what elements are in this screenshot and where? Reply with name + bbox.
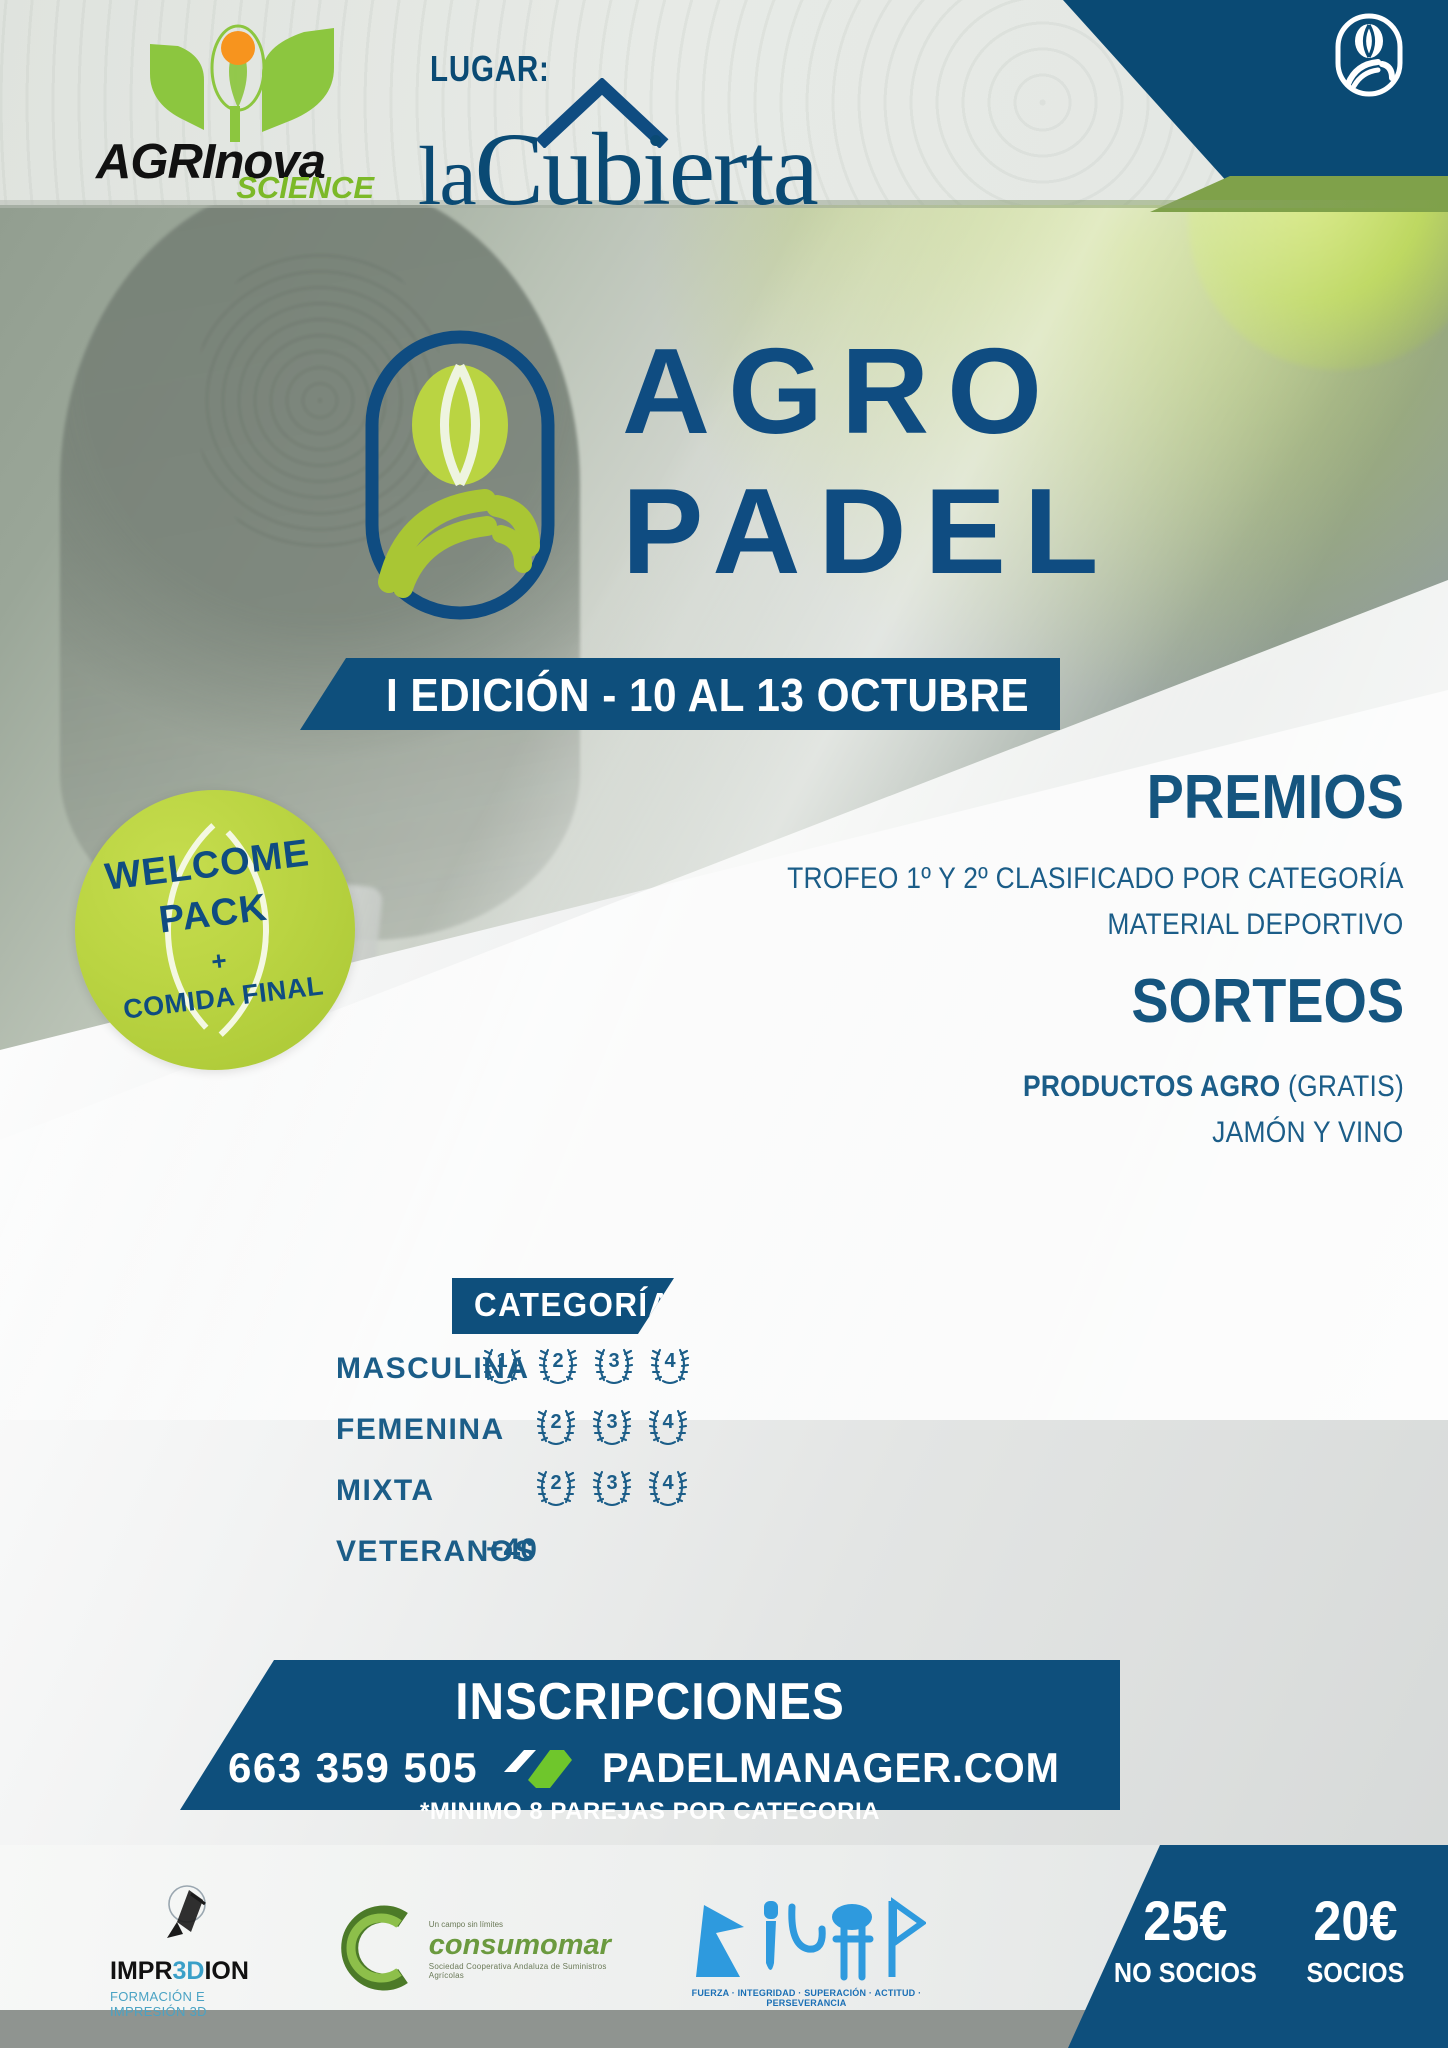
footer-sponsor-logos: IMPR3DION FORMACIÓN E IMPRESIÓN 3D Un ca… bbox=[110, 1880, 930, 2020]
sponsor-impr3dion-name: IMPR3DION bbox=[110, 1957, 265, 1986]
laurel-wreath-number: 4 bbox=[646, 1350, 694, 1373]
categoria-badges: 2 3 4 bbox=[532, 1405, 692, 1449]
poster-root: AGRInova SCIENCE LUGAR: laCubierta bbox=[0, 0, 1448, 2048]
laurel-wreath-number: 4 bbox=[644, 1472, 692, 1495]
categoria-row-masculina: MASCULINA 1 2 3 4 bbox=[336, 1348, 756, 1394]
welcome-pack-ball: WELCOME PACK + COMIDA FINAL bbox=[75, 790, 355, 1070]
categorias-list: MASCULINA 1 2 3 4 bbox=[336, 1348, 756, 1592]
hero-title-padel: PADEL bbox=[622, 470, 1116, 592]
agrinova-logo: AGRInova SCIENCE bbox=[96, 22, 386, 202]
sponsor-consumomar: Un campo sin límites consumomar Sociedad… bbox=[337, 1900, 611, 2001]
categoria-name: FEMENINA bbox=[336, 1413, 505, 1447]
impr3dion-logo-icon bbox=[110, 1882, 265, 1953]
sorteos-line-2: JAMÓN Y VINO bbox=[1213, 1116, 1404, 1150]
laurel-wreath-number: 1 bbox=[478, 1350, 526, 1373]
venue-name-cubierta: Cubierta bbox=[475, 112, 817, 227]
laurel-wreath-number: 2 bbox=[534, 1350, 582, 1373]
impr3dion-name-pre: IMPR bbox=[110, 1957, 173, 1985]
laurel-wreath-number: 2 bbox=[532, 1411, 580, 1434]
agrinova-word-science: SCIENCE bbox=[236, 170, 374, 205]
sorteos-line-1-suffix: (GRATIS) bbox=[1280, 1070, 1404, 1103]
price-no-socios: 25€ NO SOCIOS bbox=[1106, 1888, 1265, 1989]
sponsor-consumomar-name: consumomar bbox=[429, 1929, 611, 1962]
categoria-row-veteranos: VETERANOS +40 bbox=[336, 1531, 756, 1577]
laurel-wreath-icon: 3 bbox=[588, 1466, 636, 1510]
sorteos-heading: SORTEOS bbox=[1131, 966, 1404, 1037]
agropadel-ball-field-icon bbox=[365, 330, 555, 620]
inscripciones-note: *MINIMO 8 PAREJAS POR CATEGORIA bbox=[180, 1798, 1120, 1826]
premios-line-1: TROFEO 1º Y 2º CLASIFICADO POR CATEGORÍA bbox=[787, 862, 1404, 896]
inscripciones-note-wrap: *MINIMO 8 PAREJAS POR CATEGORIA bbox=[180, 1660, 1120, 1850]
laurel-wreath-number: 3 bbox=[590, 1350, 638, 1373]
sorteos-line-1-bold: PRODUCTOS AGRO bbox=[1023, 1070, 1280, 1103]
laurel-wreath-icon: 3 bbox=[588, 1405, 636, 1449]
categoria-badges: 2 3 4 bbox=[532, 1466, 692, 1510]
impr3dion-name-post: ION bbox=[204, 1957, 248, 1985]
categoria-badges: 1 2 3 4 bbox=[478, 1344, 694, 1388]
laurel-wreath-icon: 2 bbox=[532, 1405, 580, 1449]
sponsor-fisap: FUERZA · INTEGRIDAD · SUPERACIÓN · ACTIT… bbox=[683, 1893, 930, 2008]
categoria-name: MIXTA bbox=[336, 1474, 435, 1508]
footer-prices: 25€ NO SOCIOS 20€ SOCIOS bbox=[1080, 1888, 1410, 1989]
premios-line-2: MATERIAL DEPORTIVO bbox=[1108, 908, 1404, 942]
laurel-wreath-number: 4 bbox=[644, 1411, 692, 1434]
laurel-wreath-number: 2 bbox=[532, 1472, 580, 1495]
laurel-wreath-icon: 4 bbox=[644, 1466, 692, 1510]
categoria-row-mixta: MIXTA 2 3 4 bbox=[336, 1470, 756, 1516]
welcome-pack-text: WELCOME PACK + COMIDA FINAL bbox=[66, 828, 365, 1031]
laurel-wreath-icon: 1 bbox=[478, 1344, 526, 1388]
price-socios-label: SOCIOS bbox=[1307, 1957, 1405, 1989]
agrinova-word-agri: AGRI bbox=[96, 135, 215, 189]
premios-heading: PREMIOS bbox=[1147, 762, 1404, 833]
consumomar-c-icon bbox=[337, 1900, 423, 2001]
categoria-row-femenina: FEMENINA 2 3 4 bbox=[336, 1409, 756, 1455]
sponsor-impr3dion-tagline: FORMACIÓN E IMPRESIÓN 3D bbox=[110, 1989, 265, 2019]
laurel-wreath-icon: 2 bbox=[532, 1466, 580, 1510]
agrinova-leaf-icon bbox=[142, 22, 342, 142]
price-no-socios-label: NO SOCIOS bbox=[1114, 1957, 1257, 1989]
impr3dion-name-mid: 3D bbox=[173, 1957, 205, 1985]
sponsor-consumomar-sub: Sociedad Cooperativa Andaluza de Suminis… bbox=[429, 1962, 611, 1980]
categoria-age-note: +40 bbox=[486, 1533, 537, 1567]
agrinova-wordmark: AGRInova SCIENCE bbox=[96, 140, 386, 203]
date-banner: I EDICIÓN - 10 AL 13 OCTUBRE bbox=[300, 658, 1060, 730]
price-no-socios-amount: 25€ bbox=[1114, 1888, 1257, 1953]
categorias-banner: CATEGORÍAS bbox=[452, 1278, 674, 1334]
laurel-wreath-number: 3 bbox=[588, 1472, 636, 1495]
agropadel-badge-icon bbox=[1334, 12, 1404, 98]
price-socios: 20€ SOCIOS bbox=[1301, 1888, 1410, 1989]
sponsor-consumomar-top: Un campo sin límites bbox=[429, 1920, 611, 1929]
price-socios-amount: 20€ bbox=[1307, 1888, 1405, 1953]
venue-name-la: la bbox=[418, 130, 475, 223]
laurel-wreath-icon: 2 bbox=[534, 1344, 582, 1388]
hero-title-agro: AGRO bbox=[622, 330, 1060, 452]
sponsor-fisap-tagline: FUERZA · INTEGRIDAD · SUPERACIÓN · ACTIT… bbox=[683, 1988, 930, 2008]
venue-name: laCubierta bbox=[418, 110, 817, 229]
laurel-wreath-number: 3 bbox=[588, 1411, 636, 1434]
fisap-figures-icon bbox=[683, 1893, 930, 1986]
laurel-wreath-icon: 3 bbox=[590, 1344, 638, 1388]
laurel-wreath-icon: 4 bbox=[644, 1405, 692, 1449]
date-banner-text: I EDICIÓN - 10 AL 13 OCTUBRE bbox=[386, 668, 1029, 722]
sponsor-impr3dion: IMPR3DION FORMACIÓN E IMPRESIÓN 3D bbox=[110, 1882, 265, 2019]
sorteos-line-1: PRODUCTOS AGRO (GRATIS) bbox=[1023, 1070, 1404, 1104]
laurel-wreath-icon: 4 bbox=[646, 1344, 694, 1388]
